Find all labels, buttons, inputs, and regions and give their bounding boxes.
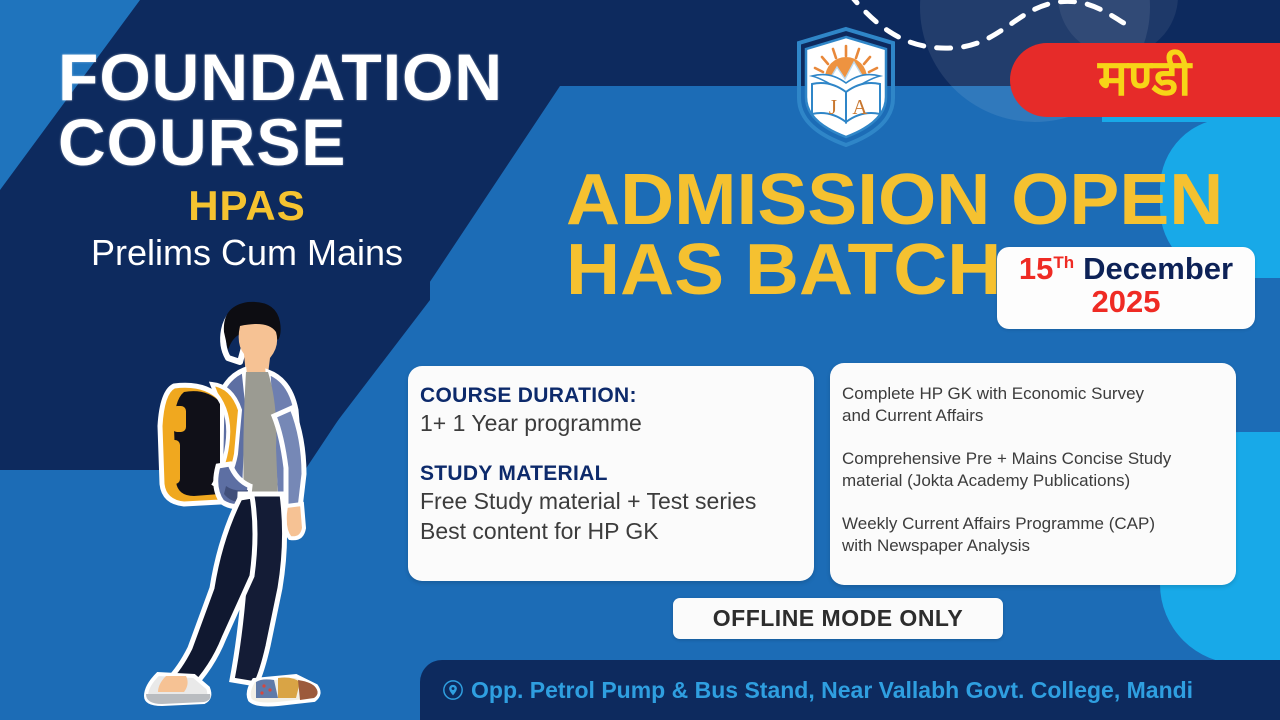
address-text: Opp. Petrol Pump & Bus Stand, Near Valla… — [471, 677, 1193, 704]
date-year: 2025 — [1007, 286, 1245, 319]
admission-line-1: ADMISSION OPEN — [566, 166, 1273, 236]
walking-student-illustration — [128, 288, 368, 720]
course-details-card: COURSE DURATION: 1+ 1 Year programme STU… — [408, 366, 814, 581]
headline-subtitle: Prelims Cum Mains — [58, 232, 436, 274]
date-month: December — [1083, 253, 1233, 284]
card-spacer — [420, 439, 814, 461]
feature-3-line-1: Weekly Current Affairs Programme (CAP) — [842, 513, 1224, 535]
date-day-suffix: Th — [1053, 254, 1074, 271]
headline-exam-hpas: HPAS — [58, 182, 436, 230]
course-duration-value: 1+ 1 Year programme — [420, 409, 814, 439]
location-pin-icon — [442, 679, 464, 701]
date-day: 15 — [1019, 253, 1053, 284]
city-badge-label: मण्डी — [1098, 53, 1207, 107]
date-row-day-month: 15 Th December — [1007, 253, 1245, 284]
offline-mode-label: OFFLINE MODE ONLY — [713, 605, 963, 632]
city-badge-mandi: मण्डी — [1010, 43, 1280, 117]
address-bar: Opp. Petrol Pump & Bus Stand, Near Valla… — [420, 660, 1280, 720]
course-duration-heading: COURSE DURATION: — [420, 383, 814, 409]
feature-1-line-2: and Current Affairs — [842, 405, 1224, 427]
batch-start-date-card: 15 Th December 2025 — [997, 247, 1255, 329]
feature-2-line-2: material (Jokta Academy Publications) — [842, 470, 1224, 492]
features-spacer-1 — [842, 428, 1224, 448]
features-spacer-2 — [842, 493, 1224, 513]
feature-1-line-1: Complete HP GK with Economic Survey — [842, 383, 1224, 405]
offline-mode-badge: OFFLINE MODE ONLY — [673, 598, 1003, 639]
study-material-line-1: Free Study material + Test series — [420, 487, 814, 517]
study-material-heading: STUDY MATERIAL — [420, 461, 814, 487]
features-card: Complete HP GK with Economic Survey and … — [830, 363, 1236, 585]
logo-letter-j: J — [829, 95, 837, 119]
headline-foundation: FOUNDATION — [58, 46, 678, 108]
promotional-poster: FOUNDATION COURSE HPAS Prelims Cum Mains… — [0, 0, 1280, 720]
feature-3-line-2: with Newspaper Analysis — [842, 535, 1224, 557]
study-material-line-2: Best content for HP GK — [420, 517, 814, 547]
logo-letter-a: A — [852, 95, 868, 119]
jokta-academy-logo-icon: J A — [792, 26, 900, 148]
feature-2-line-1: Comprehensive Pre + Mains Concise Study — [842, 448, 1224, 470]
